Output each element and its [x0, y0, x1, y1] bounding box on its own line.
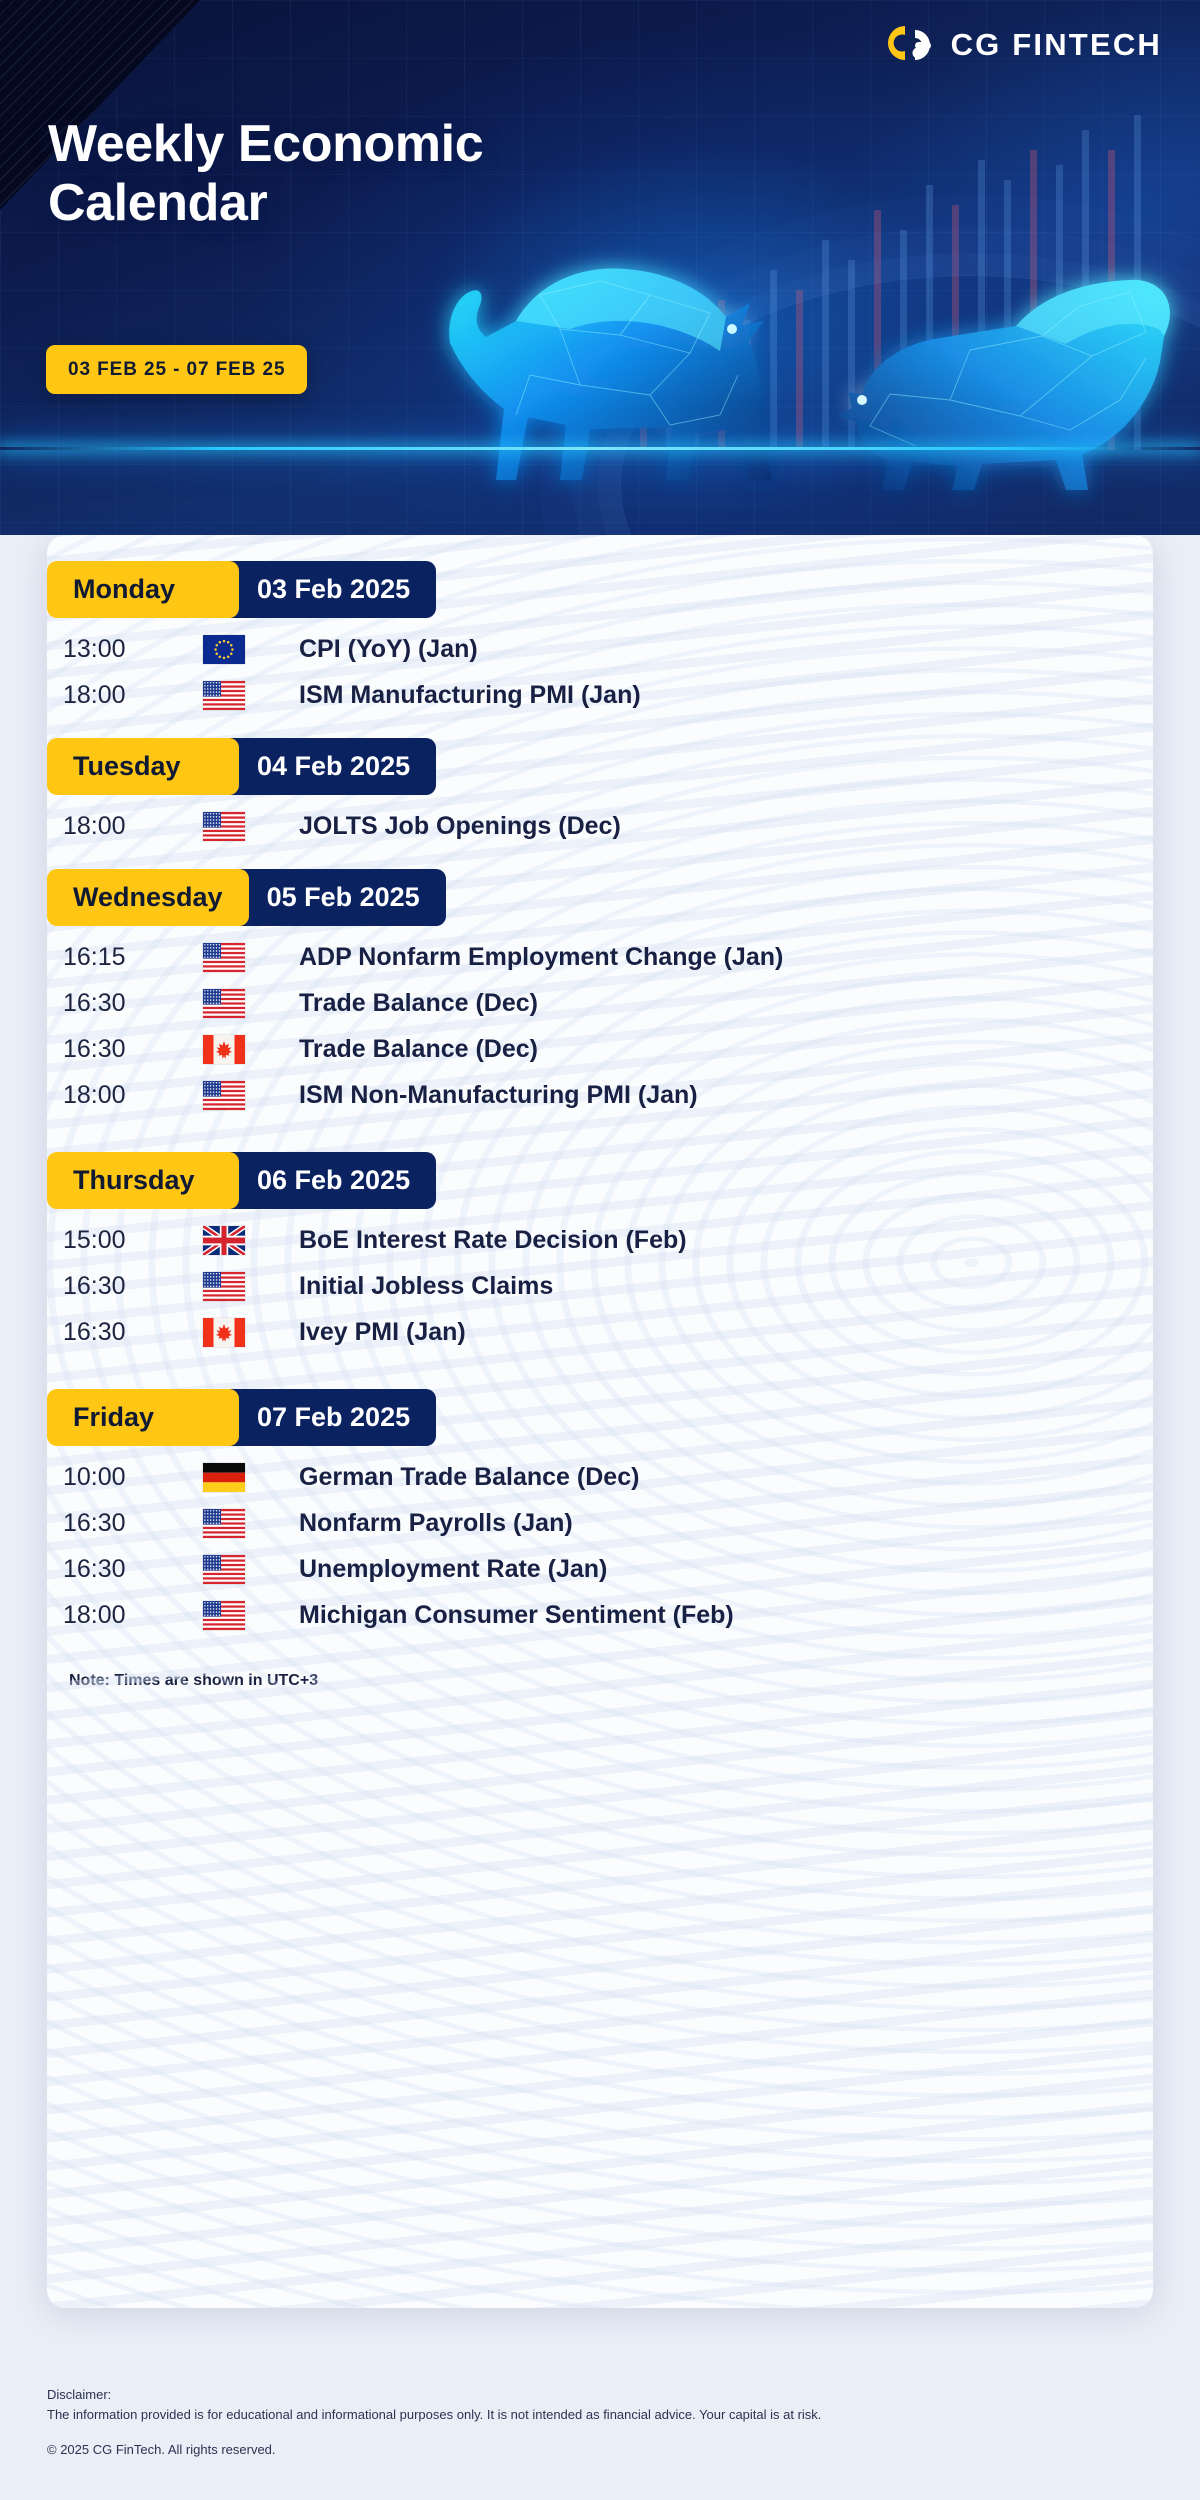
- day-name-badge: Thursday: [47, 1152, 239, 1209]
- us-flag-icon: [203, 1081, 299, 1110]
- day-header: Wednesday05 Feb 2025: [47, 869, 446, 926]
- day-header: Thursday06 Feb 2025: [47, 1152, 436, 1209]
- day-date-badge: 04 Feb 2025: [217, 738, 436, 795]
- event-row[interactable]: 16:30 Initial Jobless Claims: [47, 1263, 1153, 1309]
- event-name: ISM Manufacturing PMI (Jan): [299, 681, 641, 710]
- us-flag-icon: [203, 1272, 299, 1301]
- cg-logo-mark-icon: [881, 22, 937, 68]
- calendar-card: Monday03 Feb 202513:00 CPI (YoY) (Jan)18…: [47, 535, 1153, 2308]
- event-time: 16:30: [53, 1035, 203, 1064]
- event-name: Ivey PMI (Jan): [299, 1318, 466, 1347]
- disclaimer-text: The information provided is for educatio…: [47, 2405, 1153, 2425]
- timezone-note: Note: Times are shown in UTC+3: [47, 1638, 1153, 1690]
- us-flag-icon: [203, 812, 299, 841]
- day-header: Tuesday04 Feb 2025: [47, 738, 436, 795]
- us-flag-icon: [203, 1555, 299, 1584]
- event-list: 10:00 German Trade Balance (Dec)16:30 No…: [47, 1446, 1153, 1638]
- event-row[interactable]: 16:15 ADP Nonfarm Employment Change (Jan…: [47, 934, 1153, 980]
- day-block: Monday03 Feb 202513:00 CPI (YoY) (Jan)18…: [47, 561, 1153, 718]
- hero-banner: Weekly Economic Calendar 03 FEB 25 - 07 …: [0, 0, 1200, 535]
- us-flag-icon: [203, 1601, 299, 1630]
- day-block: Friday07 Feb 202510:00 German Trade Bala…: [47, 1389, 1153, 1638]
- day-date-badge: 03 Feb 2025: [217, 561, 436, 618]
- event-list: 16:15 ADP Nonfarm Employment Change (Jan…: [47, 926, 1153, 1118]
- ca-flag-icon: [203, 1035, 299, 1064]
- de-flag-icon: [203, 1463, 299, 1492]
- uk-flag-icon: [203, 1226, 299, 1255]
- event-time: 16:30: [53, 1555, 203, 1584]
- bear-silhouette-icon: [830, 240, 1200, 510]
- event-time: 16:30: [53, 1272, 203, 1301]
- event-time: 10:00: [53, 1463, 203, 1492]
- event-row[interactable]: 18:00 ISM Non-Manufacturing PMI (Jan): [47, 1072, 1153, 1118]
- us-flag-icon: [203, 943, 299, 972]
- day-block: Tuesday04 Feb 202518:00 JOLTS Job Openin…: [47, 738, 1153, 849]
- day-date-badge: 06 Feb 2025: [217, 1152, 436, 1209]
- us-flag-icon: [203, 681, 299, 710]
- day-name-badge: Monday: [47, 561, 239, 618]
- event-row[interactable]: 10:00 German Trade Balance (Dec): [47, 1454, 1153, 1500]
- event-time: 16:30: [53, 1509, 203, 1538]
- day-date-badge: 07 Feb 2025: [217, 1389, 436, 1446]
- ca-flag-icon: [203, 1318, 299, 1347]
- event-name: Michigan Consumer Sentiment (Feb): [299, 1601, 734, 1630]
- event-time: 16:30: [53, 1318, 203, 1347]
- eu-flag-icon: [203, 635, 299, 664]
- disclaimer-label: Disclaimer:: [47, 2385, 1153, 2405]
- event-time: 15:00: [53, 1226, 203, 1255]
- hero-laser-line: [0, 447, 1200, 450]
- day-header: Monday03 Feb 2025: [47, 561, 436, 618]
- event-time: 18:00: [53, 1081, 203, 1110]
- day-block: Thursday06 Feb 202515:00 BoE Interest Ra…: [47, 1152, 1153, 1355]
- event-name: JOLTS Job Openings (Dec): [299, 812, 621, 841]
- page-title-line2: Calendar: [48, 174, 483, 233]
- page-title: Weekly Economic Calendar: [48, 115, 483, 233]
- event-time: 18:00: [53, 681, 203, 710]
- event-time: 16:15: [53, 943, 203, 972]
- day-name-badge: Friday: [47, 1389, 239, 1446]
- event-name: BoE Interest Rate Decision (Feb): [299, 1226, 687, 1255]
- us-flag-icon: [203, 989, 299, 1018]
- event-name: Initial Jobless Claims: [299, 1272, 553, 1301]
- day-date-badge: 05 Feb 2025: [227, 869, 446, 926]
- page-title-line1: Weekly Economic: [48, 115, 483, 174]
- day-name-badge: Tuesday: [47, 738, 239, 795]
- event-row[interactable]: 16:30 Ivey PMI (Jan): [47, 1309, 1153, 1355]
- event-time: 16:30: [53, 989, 203, 1018]
- event-name: Trade Balance (Dec): [299, 1035, 538, 1064]
- event-row[interactable]: 16:30 Trade Balance (Dec): [47, 1026, 1153, 1072]
- day-block: Wednesday05 Feb 202516:15 ADP Nonfarm Em…: [47, 869, 1153, 1118]
- event-name: ISM Non-Manufacturing PMI (Jan): [299, 1081, 698, 1110]
- event-row[interactable]: 15:00 BoE Interest Rate Decision (Feb): [47, 1217, 1153, 1263]
- event-time: 18:00: [53, 812, 203, 841]
- event-list: 15:00 BoE Interest Rate Decision (Feb)16…: [47, 1209, 1153, 1355]
- day-header: Friday07 Feb 2025: [47, 1389, 436, 1446]
- event-time: 18:00: [53, 1601, 203, 1630]
- brand-name: CG FINTECH: [951, 27, 1162, 63]
- footer: Disclaimer: The information provided is …: [47, 2385, 1153, 2457]
- event-name: ADP Nonfarm Employment Change (Jan): [299, 943, 783, 972]
- event-row[interactable]: 18:00 ISM Manufacturing PMI (Jan): [47, 672, 1153, 718]
- event-row[interactable]: 16:30 Nonfarm Payrolls (Jan): [47, 1500, 1153, 1546]
- brand-logo[interactable]: CG FINTECH: [881, 22, 1162, 68]
- calendar-body: Monday03 Feb 202513:00 CPI (YoY) (Jan)18…: [47, 535, 1153, 1638]
- event-name: Trade Balance (Dec): [299, 989, 538, 1018]
- day-name-badge: Wednesday: [47, 869, 249, 926]
- date-range-badge: 03 FEB 25 - 07 FEB 25: [46, 345, 307, 394]
- bull-silhouette-icon: [420, 225, 840, 515]
- event-name: German Trade Balance (Dec): [299, 1463, 639, 1492]
- copyright-text: © 2025 CG FinTech. All rights reserved.: [47, 2442, 1153, 2457]
- event-name: CPI (YoY) (Jan): [299, 635, 478, 664]
- us-flag-icon: [203, 1509, 299, 1538]
- event-name: Unemployment Rate (Jan): [299, 1555, 607, 1584]
- event-row[interactable]: 18:00 Michigan Consumer Sentiment (Feb): [47, 1592, 1153, 1638]
- event-row[interactable]: 13:00 CPI (YoY) (Jan): [47, 626, 1153, 672]
- infographic-page: Weekly Economic Calendar 03 FEB 25 - 07 …: [0, 0, 1200, 2500]
- event-row[interactable]: 16:30 Unemployment Rate (Jan): [47, 1546, 1153, 1592]
- event-time: 13:00: [53, 635, 203, 664]
- event-list: 13:00 CPI (YoY) (Jan)18:00 ISM Manufactu…: [47, 618, 1153, 718]
- event-list: 18:00 JOLTS Job Openings (Dec): [47, 795, 1153, 849]
- event-row[interactable]: 18:00 JOLTS Job Openings (Dec): [47, 803, 1153, 849]
- event-name: Nonfarm Payrolls (Jan): [299, 1509, 573, 1538]
- event-row[interactable]: 16:30 Trade Balance (Dec): [47, 980, 1153, 1026]
